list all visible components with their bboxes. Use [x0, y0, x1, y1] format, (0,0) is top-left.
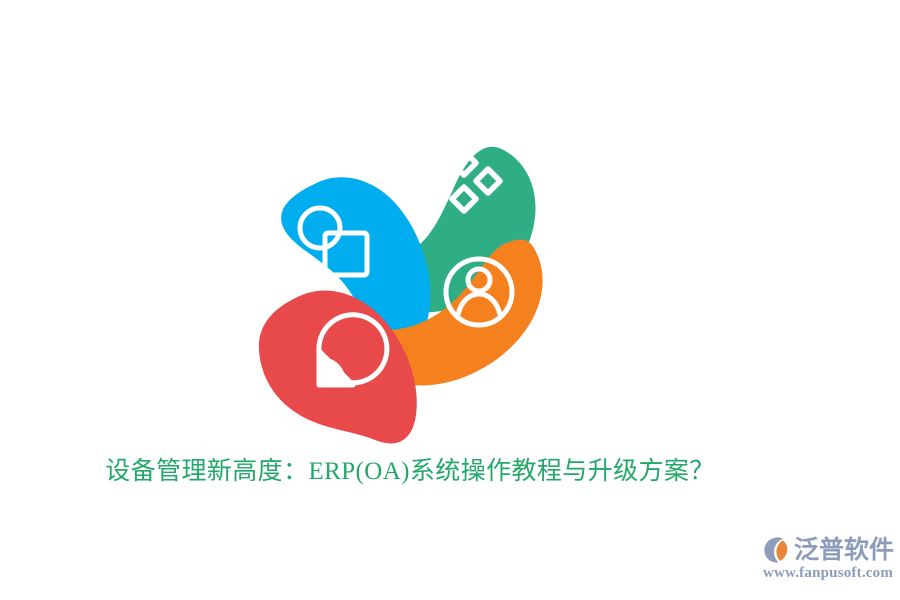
fanpu-logo-icon — [762, 535, 792, 565]
page-title: 设备管理新高度：ERP(OA)系统操作教程与升级方案？ — [0, 455, 820, 489]
logo-svg — [253, 128, 553, 448]
watermark-brand-name: 泛普软件 — [794, 535, 894, 565]
watermark-url: www.fanpusoft.com — [763, 564, 893, 582]
watermark-brand-row: 泛普软件 — [762, 534, 894, 566]
watermark: 泛普软件 www.fanpusoft.com — [762, 534, 894, 586]
image-canvas: 设备管理新高度：ERP(OA)系统操作教程与升级方案？ 泛普软件 www.fan… — [0, 0, 900, 600]
four-petal-pinwheel-logo — [253, 128, 553, 448]
